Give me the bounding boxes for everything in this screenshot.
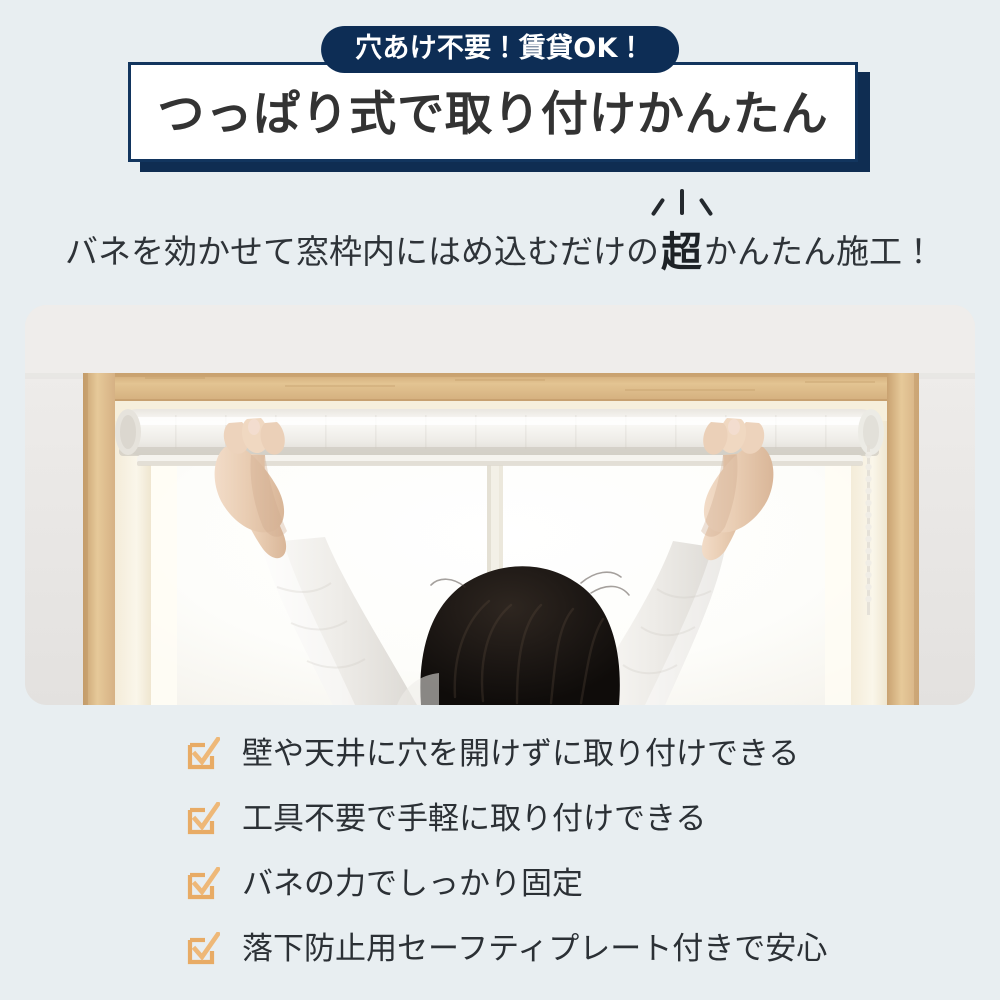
subtitle-text-after: かんたん施工！: [704, 235, 935, 268]
checkbox-checked-icon: [186, 932, 220, 966]
subtitle-emphasis-char: 超: [661, 232, 702, 273]
subtitle: バネを効かせて窓枠内にはめ込むだけの 超 かんたん施工！: [0, 186, 1000, 286]
list-item-label: 落下防止用セーフティプレート付きで安心: [242, 934, 827, 965]
subtitle-emphasis-group: 超: [659, 229, 704, 270]
status-badge: 穴あけ不要！賃貸OK！: [321, 26, 679, 73]
product-installation-photo: [25, 305, 975, 705]
checkbox-checked-icon: [186, 737, 220, 771]
list-item-label: 壁や天井に穴を開けずに取り付けできる: [242, 739, 799, 770]
sparkle-icon: [650, 185, 714, 225]
list-item: 壁や天井に穴を開けずに取り付けできる: [0, 722, 1000, 787]
banner-box: つっぱり式で取り付けかんたん: [128, 62, 858, 162]
list-item-label: バネの力でしっかり固定: [242, 869, 583, 900]
list-item: 工具不要で手軽に取り付けできる: [0, 787, 1000, 852]
photo-illustration: [25, 305, 975, 705]
checkbox-checked-icon: [186, 867, 220, 901]
feature-list: 壁や天井に穴を開けずに取り付けできる 工具不要で手軽に取り付けできる バネの力で…: [0, 722, 1000, 982]
header-banner: つっぱり式で取り付けかんたん 穴あけ不要！賃貸OK！: [0, 0, 1000, 180]
page-title: つっぱり式で取り付けかんたん: [157, 91, 828, 138]
list-item: バネの力でしっかり固定: [0, 852, 1000, 917]
checkbox-checked-icon: [186, 802, 220, 836]
list-item: 落下防止用セーフティプレート付きで安心: [0, 917, 1000, 982]
subtitle-text-before: バネを効かせて窓枠内にはめ込むだけの: [65, 235, 659, 268]
list-item-label: 工具不要で手軽に取り付けできる: [242, 804, 706, 835]
